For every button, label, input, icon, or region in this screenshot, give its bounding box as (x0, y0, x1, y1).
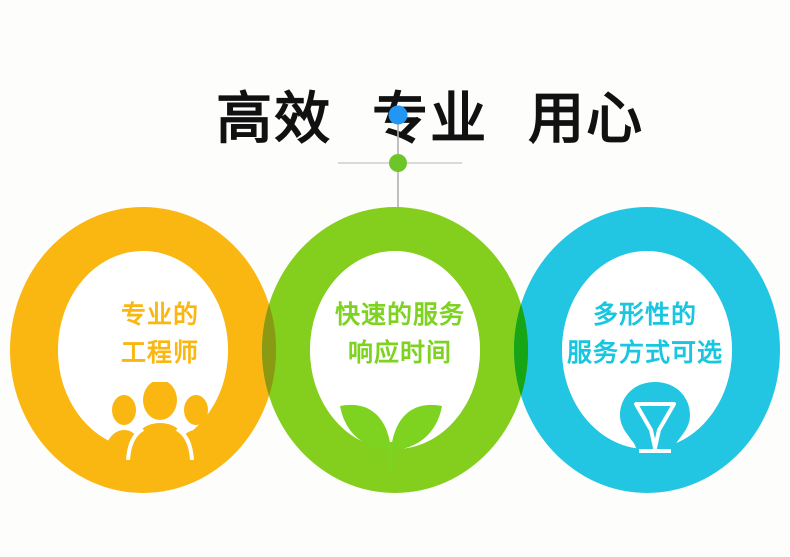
venn-rings-group (0, 0, 790, 557)
inner-hole-1 (58, 251, 228, 449)
inner-hole-3 (562, 251, 732, 449)
poster-canvas: 高效专业用心 (0, 0, 790, 557)
inner-hole-2 (310, 251, 480, 449)
